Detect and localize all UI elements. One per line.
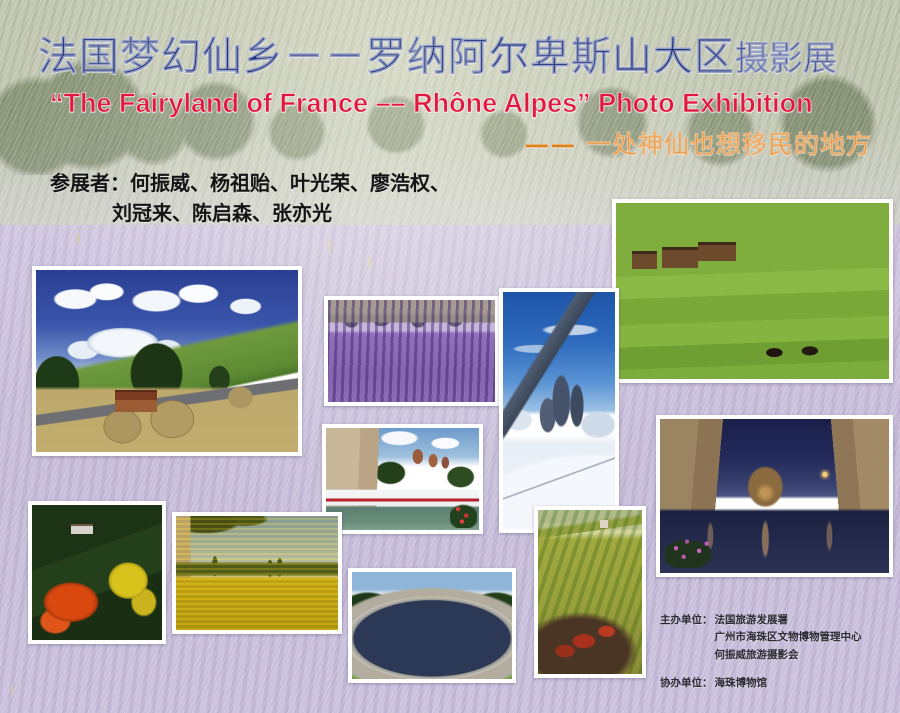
chapel-shape	[600, 520, 607, 528]
coorganizer-row: 协办单位： 海珠博物馆	[660, 675, 862, 692]
participants-line-1: 何振威、杨祖贻、叶光荣、廖浩权、	[130, 171, 450, 195]
photo-lavender-field	[324, 296, 499, 406]
photo-chateau-reflecting-pool	[348, 568, 516, 683]
photo-mont-blanc-hay-bales-image	[36, 270, 298, 452]
coorganizer-values: 海珠博物馆	[713, 675, 768, 692]
organizer-values: 法国旅游发展署 广州市海珠区文物博物管理中心 何振威旅游摄影会	[713, 612, 862, 664]
photo-snow-peaks	[499, 288, 619, 533]
coorganizer-label: 协办单位：	[660, 675, 713, 692]
flower-box-shape	[665, 535, 720, 569]
photo-chateau-reflecting-pool-image	[352, 572, 512, 679]
chalet-shape	[115, 390, 157, 412]
farmhouse-shape	[71, 524, 93, 534]
organizer-label: 主办单位：	[660, 612, 713, 664]
organizer-item: 法国旅游发展署	[715, 612, 862, 629]
photo-alpine-village-cows	[612, 199, 893, 383]
participants-line-2: 刘冠来、陈启森、张亦光	[50, 198, 570, 228]
organizer-row: 主办单位： 法国旅游发展署 广州市海珠区文物博物管理中心 何振威旅游摄影会	[660, 612, 862, 664]
photo-autumn-forest-image	[32, 505, 162, 640]
participants-block: 参展者：何振威、杨祖贻、叶光荣、廖浩权、 刘冠来、陈启森、张亦光	[50, 168, 570, 228]
page-title-chinese-suffix: 摄影展	[735, 39, 837, 79]
chalet-shape	[632, 251, 657, 270]
organizer-item: 广州市海珠区文物博物管理中心	[715, 629, 862, 646]
credits-block: 主办单位： 法国旅游发展署 广州市海珠区文物博物管理中心 何振威旅游摄影会 协办…	[660, 612, 862, 692]
chalet-shape	[698, 242, 736, 261]
photo-autumn-vineyard-image	[538, 510, 642, 674]
photo-lavender-field-image	[328, 300, 495, 402]
photo-annecy-canal-night	[656, 415, 893, 577]
page-title-chinese-main: 法国梦幻仙乡－－罗纳阿尔卑斯山大区	[38, 34, 735, 80]
photo-mont-blanc-hay-bales	[32, 266, 302, 456]
photo-annecy-castle-boats-image	[326, 428, 479, 530]
photo-sunflower-field	[172, 512, 342, 634]
page-title-english: “The Fairyland of France –– Rhône Alpes”…	[50, 90, 880, 117]
chalet-shape	[662, 247, 697, 268]
organizer-item: 何振威旅游摄影会	[715, 647, 862, 664]
photo-alpine-village-cows-image	[616, 203, 889, 379]
photo-annecy-canal-night-image	[660, 419, 889, 573]
page-tagline: —— 一处神仙也想移民的地方	[524, 132, 872, 157]
geranium-shape	[450, 501, 478, 528]
credits-spacer	[660, 664, 862, 675]
exhibition-poster: 法国梦幻仙乡－－罗纳阿尔卑斯山大区摄影展 “The Fairyland of F…	[0, 0, 900, 713]
photo-snow-peaks-image	[503, 292, 615, 529]
participants-label: 参展者：	[50, 171, 130, 195]
photo-autumn-vineyard	[534, 506, 646, 678]
photo-annecy-castle-boats	[322, 424, 483, 534]
photo-sunflower-field-image	[176, 516, 338, 630]
page-title-chinese: 法国梦幻仙乡－－罗纳阿尔卑斯山大区摄影展	[38, 37, 868, 77]
coorganizer-item: 海珠博物馆	[715, 675, 768, 692]
photo-autumn-forest	[28, 501, 166, 644]
